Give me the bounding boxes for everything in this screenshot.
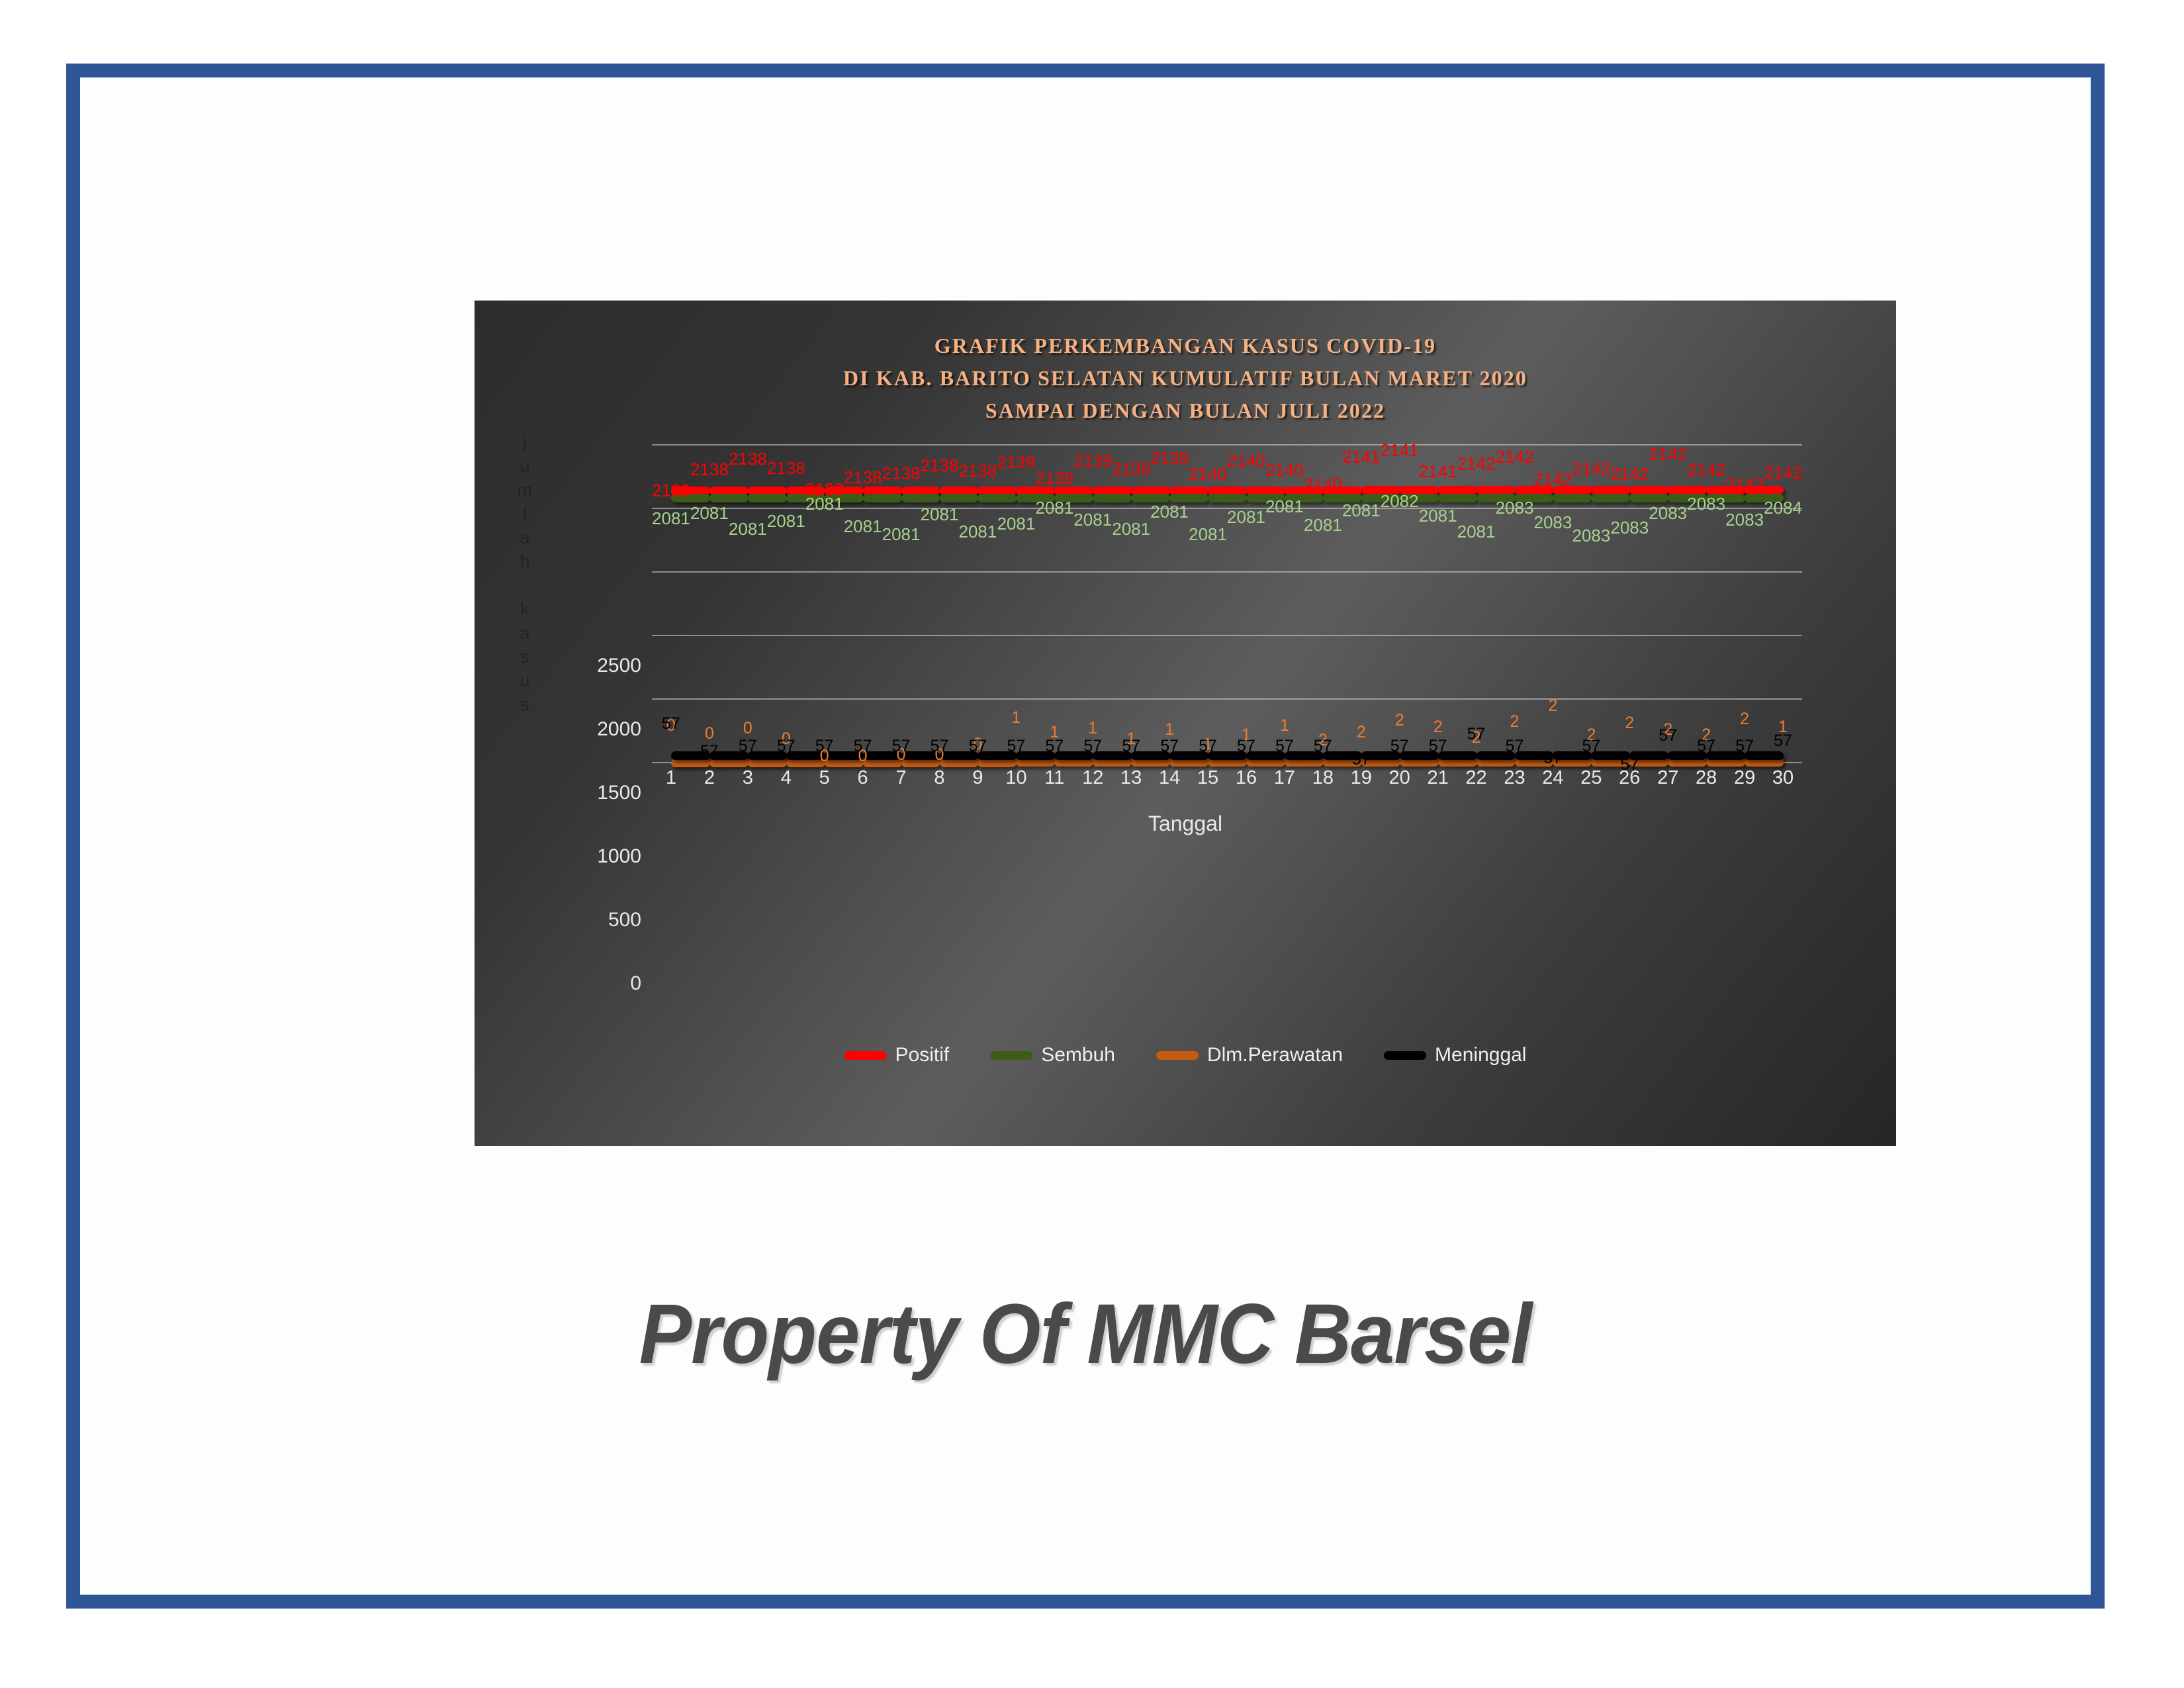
watermark-text: Property Of MMC Barsel [150,1286,2020,1383]
data-label-positif: 2138 [959,461,997,481]
data-label-meninggal: 57 [1122,737,1140,756]
x-axis-tick-label: 25 [1580,767,1602,789]
data-label-meninggal: 57 [1390,737,1409,756]
legend-swatch-icon [844,1051,887,1060]
x-axis-tick-label: 23 [1504,767,1525,789]
data-label-meninggal: 57 [739,737,757,756]
x-axis-tick-label: 3 [743,767,753,789]
data-label-positif: 2142 [1687,460,1725,481]
series-line-sembuh [748,494,787,502]
y-axis-title-letter: a [512,526,538,549]
data-label-sembuh: 2083 [1649,503,1687,524]
data-label-positif: 2138 [652,481,690,501]
x-axis-tick-label: 20 [1389,767,1410,789]
x-axis-tick-label: 16 [1236,767,1257,789]
data-label-sembuh: 2083 [1572,526,1610,546]
data-label-sembuh: 2081 [1150,502,1189,522]
data-label-sembuh: 2081 [690,503,729,524]
data-label-meninggal: 57 [1582,737,1600,756]
series-line-sembuh [940,494,979,502]
data-label-dlm-perawatan: 2 [1433,718,1443,737]
series-line-sembuh [1591,494,1630,502]
data-label-sembuh: 2081 [805,494,844,514]
data-label-positif: 2142 [1457,453,1496,474]
data-label-meninggal: 57 [1199,737,1217,756]
data-label-meninggal: 57 [854,737,872,756]
data-label-meninggal: 57 [662,714,680,733]
data-label-sembuh: 2081 [1419,506,1457,526]
data-label-sembuh: 2081 [959,522,997,542]
x-axis-tick-label: 17 [1274,767,1295,789]
data-label-sembuh: 2081 [1265,496,1304,517]
data-label-sembuh: 2081 [1304,515,1342,536]
data-label-meninggal: 57 [1544,749,1563,768]
x-axis-tick-label: 30 [1772,767,1794,789]
data-label-sembuh: 2081 [1227,507,1265,528]
y-axis-title-letter: k [512,597,538,621]
data-label-positif: 2142 [1572,459,1610,479]
x-axis-tick-label: 1 [666,767,676,789]
data-label-meninggal: 57 [1045,737,1064,756]
y-axis-title-letter: m [512,478,538,502]
data-label-positif: 2138 [767,458,805,479]
data-label-sembuh: 2083 [1496,498,1534,518]
data-label-meninggal: 57 [777,737,796,756]
data-label-meninggal: 57 [815,737,834,756]
data-label-sembuh: 2081 [652,508,690,529]
data-label-positif: 2142 [1534,469,1572,490]
data-label-sembuh: 2082 [1381,491,1419,512]
data-label-positif: 2138 [921,455,959,476]
data-label-dlm-perawatan: 2 [1548,696,1557,716]
y-axis-title-letter: u [512,454,538,478]
data-label-dlm-perawatan: 1 [1088,719,1097,738]
chart-title-line-1: GRAFIK PERKEMBANGAN KASUS COVID-19 [475,334,1896,358]
data-label-positif: 2142 [1610,464,1649,485]
x-axis-tick-label: 9 [972,767,983,789]
x-axis-tick-label: 18 [1312,767,1334,789]
data-label-positif: 2142 [1496,447,1534,467]
x-axis-tick-label: 28 [1696,767,1717,789]
data-label-sembuh: 2081 [882,524,921,545]
series-line-sembuh [1093,494,1132,502]
x-axis-tick-label: 2 [704,767,715,789]
legend-swatch-icon [1156,1051,1199,1060]
legend-item-meninggal[interactable]: Meninggal [1384,1044,1526,1066]
data-label-sembuh: 2084 [1764,498,1802,518]
legend-label: Dlm.Perawatan [1207,1044,1343,1066]
x-axis-tick-label: 6 [858,767,868,789]
data-label-positif: 2140 [1304,475,1342,495]
data-label-sembuh: 2081 [997,514,1035,534]
data-label-meninggal: 57 [931,737,949,756]
data-label-sembuh: 2081 [1112,519,1150,539]
data-label-sembuh: 2081 [1342,500,1381,521]
data-label-positif: 2138 [882,463,921,484]
data-label-sembuh: 2083 [1610,518,1649,538]
y-axis-tick-label: 2500 [562,655,641,677]
data-label-positif: 2138 [690,459,729,480]
x-axis-tick-label: 22 [1465,767,1486,789]
legend-swatch-icon [1384,1051,1426,1060]
y-axis-title-letter: j [512,430,538,454]
data-label-sembuh: 2083 [1534,512,1572,533]
data-label-meninggal: 57 [1774,731,1792,751]
plot-area: 2138213821382138213821382138213821382139… [652,445,1802,763]
data-label-meninggal: 57 [1275,737,1294,756]
y-axis-title-letter: s [512,692,538,716]
data-label-positif: 2142 [1649,444,1687,465]
y-axis-title: jumlah kasus [512,430,538,716]
data-label-dlm-perawatan: 1 [1280,716,1289,735]
data-label-sembuh: 2081 [767,511,805,532]
chart-legend: PositifSembuhDlm.PerawatanMeninggal [475,1044,1896,1066]
data-label-dlm-perawatan: 2 [1357,723,1366,742]
data-label-meninggal: 57 [1352,750,1371,769]
data-label-positif: 2140 [1227,451,1265,471]
x-axis-tick-label: 15 [1197,767,1218,789]
legend-item-dlm-perawatan[interactable]: Dlm.Perawatan [1156,1044,1343,1066]
y-axis-tick-label: 0 [562,972,641,995]
x-axis-tick-label: 8 [934,767,944,789]
data-label-sembuh: 2081 [1457,522,1496,542]
data-label-sembuh: 2081 [844,516,882,537]
data-label-meninggal: 57 [1735,737,1754,756]
x-axis-tick-label: 12 [1082,767,1103,789]
series-line-sembuh [1629,494,1668,502]
data-label-positif: 2141 [1419,461,1457,482]
data-label-sembuh: 2081 [1189,524,1227,545]
y-axis-title-letter [512,573,538,597]
data-label-sembuh: 2081 [1035,498,1073,518]
data-label-sembuh: 2081 [1073,510,1112,530]
data-label-meninggal: 57 [1007,737,1025,756]
series-line-sembuh [1553,494,1592,502]
data-label-meninggal: 57 [1083,737,1102,756]
slide-border-frame: GRAFIK PERKEMBANGAN KASUS COVID-19 DI KA… [66,64,2105,1609]
series-line-sembuh [1208,494,1247,502]
y-axis-tick-label: 2000 [562,718,641,741]
data-label-dlm-perawatan: 2 [1395,711,1404,730]
y-axis-tick-label: 500 [562,909,641,931]
x-axis-tick-label: 29 [1734,767,1755,789]
legend-label: Meninggal [1435,1044,1526,1066]
data-label-positif: 2142 [1764,463,1802,483]
data-label-dlm-perawatan: 0 [705,724,714,743]
data-label-meninggal: 57 [1429,737,1447,756]
y-axis-title-letter: u [512,669,538,692]
data-label-positif: 2142 [1725,475,1764,495]
data-label-positif: 2139 [1112,459,1150,479]
gridline [652,444,1802,445]
x-axis-tick-label: 10 [1005,767,1026,789]
series-line-sembuh [1169,494,1208,502]
data-label-meninggal: 57 [1160,737,1179,756]
data-label-meninggal: 57 [1697,737,1715,756]
x-axis-tick-label: 13 [1120,767,1142,789]
data-label-positif: 2139 [1035,468,1073,489]
data-label-dlm-perawatan: 2 [1740,710,1749,729]
x-axis-tick-label: 11 [1044,767,1064,789]
data-label-positif: 2141 [1342,447,1381,467]
x-axis-tick-label: 27 [1657,767,1678,789]
data-label-sembuh: 2083 [1725,510,1764,530]
series-line-sembuh [901,494,940,502]
data-label-dlm-perawatan: 0 [743,719,752,738]
x-axis-tick-label: 4 [781,767,792,789]
y-axis-tick-label: 1000 [562,845,641,868]
legend-label: Sembuh [1041,1044,1115,1066]
data-label-positif: 2140 [1189,464,1227,485]
series-line-sembuh [863,494,902,502]
series-line-sembuh [1438,494,1477,502]
series-line-sembuh [978,494,1017,502]
data-label-meninggal: 57 [892,737,911,756]
data-label-positif: 2138 [729,449,767,469]
data-label-sembuh: 2083 [1687,494,1725,514]
gridline [652,698,1802,700]
data-label-meninggal: 57 [1659,726,1677,745]
data-label-positif: 2138 [844,467,882,488]
x-axis-tick-label: 26 [1619,767,1640,789]
data-label-dlm-perawatan: 2 [1510,712,1520,731]
data-label-meninggal: 57 [1467,725,1486,744]
data-label-positif: 2141 [1381,440,1419,461]
x-axis-tick-label: 24 [1542,767,1563,789]
chart-title-line-3: SAMPAI DENGAN BULAN JULI 2022 [475,399,1896,423]
y-axis-title-letter: l [512,502,538,526]
y-axis-title-letter: a [512,621,538,645]
x-axis-tick-label: 5 [819,767,830,789]
data-label-dlm-perawatan: 1 [1011,708,1021,727]
x-axis-tick-label: 21 [1427,767,1448,789]
chart-title-line-2: DI KAB. BARITO SELATAN KUMULATIF BULAN M… [475,366,1896,391]
x-axis-tick-label: 19 [1351,767,1372,789]
data-label-meninggal: 57 [1314,737,1332,756]
data-label-meninggal: 57 [1506,737,1524,756]
x-axis-title: Tanggal [475,812,1896,836]
x-axis-tick-labels: 1234567891011121314151617181920212223242… [652,767,1802,796]
y-axis-title-letter: s [512,645,538,669]
legend-item-positif[interactable]: Positif [844,1044,950,1066]
data-label-positif: 2139 [1073,451,1112,471]
legend-item-sembuh[interactable]: Sembuh [990,1044,1115,1066]
data-label-sembuh: 2081 [921,504,959,525]
legend-label: Positif [895,1044,950,1066]
chart-panel: GRAFIK PERKEMBANGAN KASUS COVID-19 DI KA… [475,301,1896,1146]
x-axis-tick-label: 14 [1159,767,1180,789]
data-label-meninggal: 57 [969,737,987,756]
x-axis-tick-label: 7 [895,767,906,789]
y-axis-tick-label: 1500 [562,782,641,804]
data-label-positif: 2140 [1265,460,1304,481]
data-label-dlm-perawatan: 2 [1625,714,1634,733]
legend-swatch-icon [990,1051,1032,1060]
data-label-sembuh: 2081 [729,519,767,539]
data-label-positif: 2139 [997,452,1035,473]
gridline [652,635,1802,636]
y-axis-title-letter: h [512,549,538,573]
data-label-meninggal: 57 [700,742,719,761]
data-label-meninggal: 57 [1237,737,1255,756]
slide-canvas: GRAFIK PERKEMBANGAN KASUS COVID-19 DI KA… [0,0,2184,1688]
series-line-sembuh [709,494,749,502]
gridline [652,571,1802,573]
series-line-sembuh [1131,494,1170,502]
data-label-positif: 2139 [1150,448,1189,469]
